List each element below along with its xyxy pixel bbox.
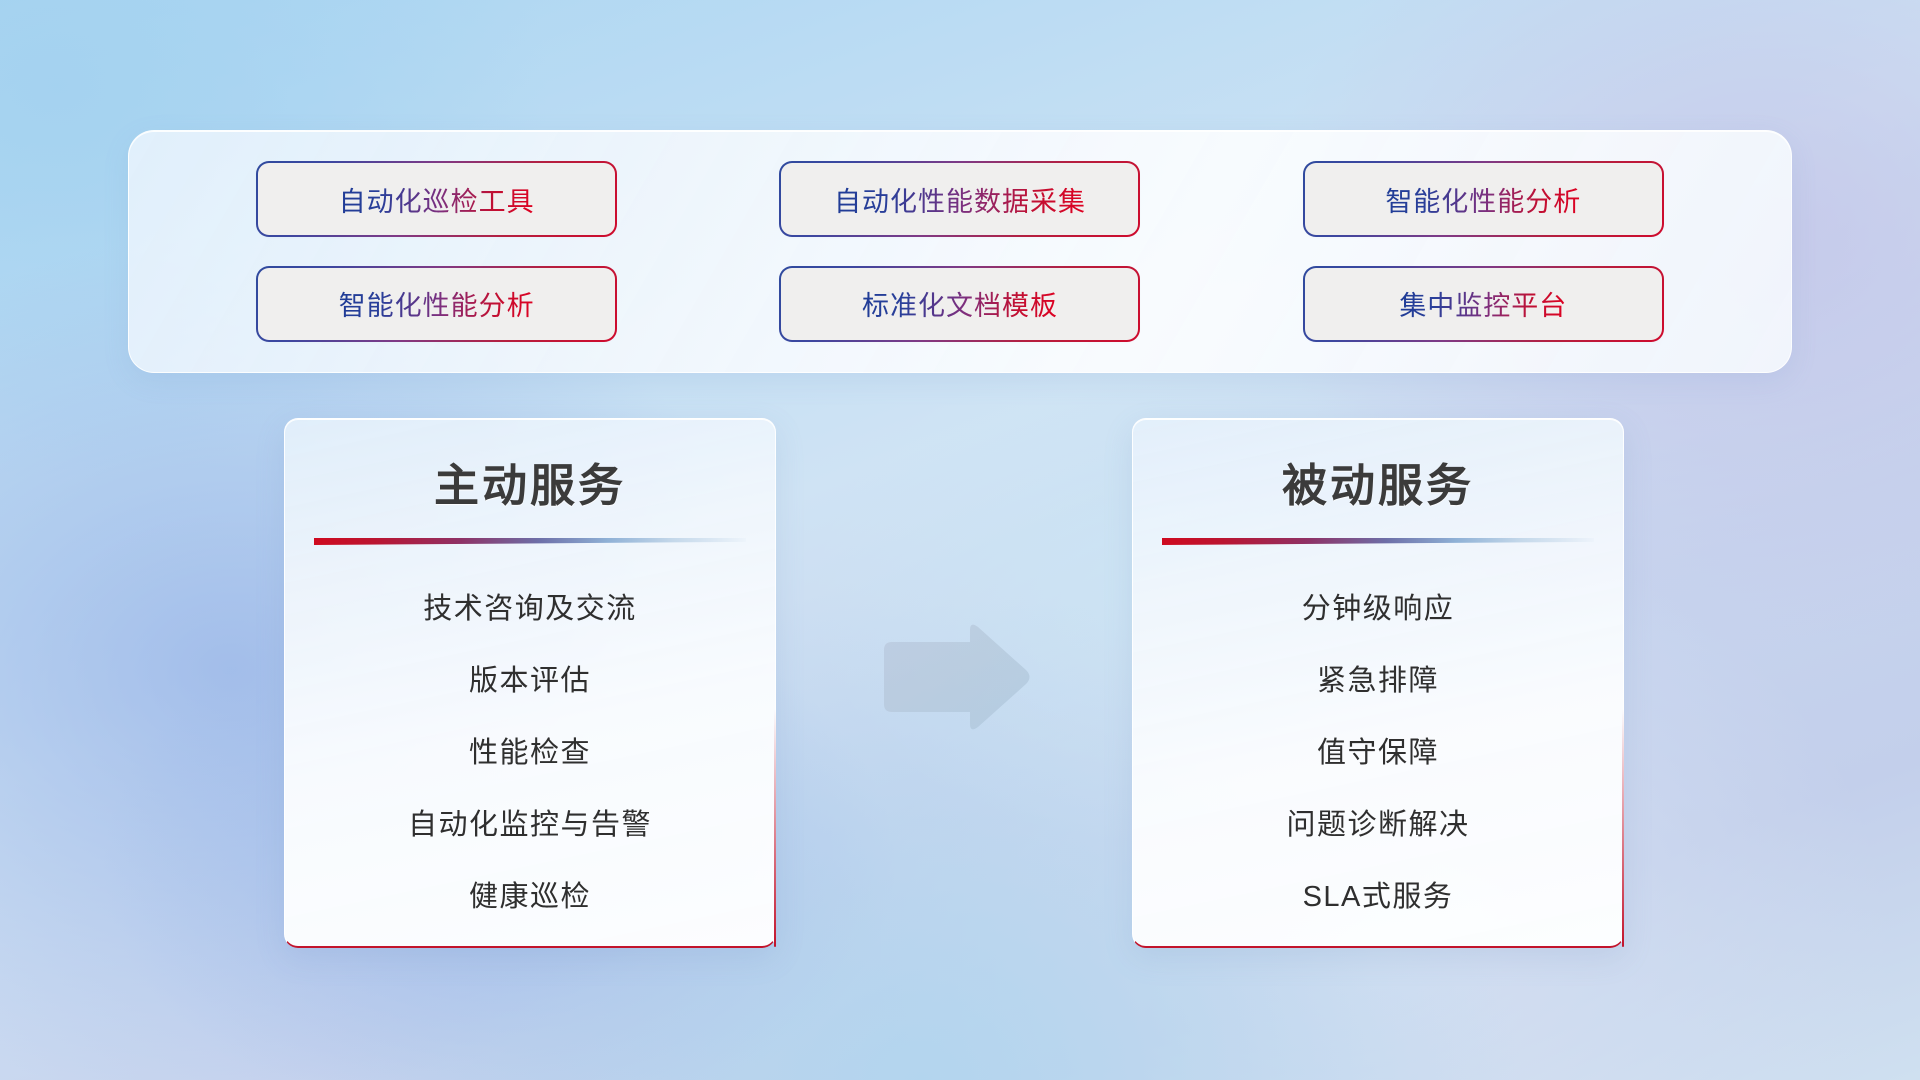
capability-pill-label: 标准化文档模板 bbox=[862, 284, 1058, 323]
capability-pill[interactable]: 智能化性能分析 bbox=[1305, 163, 1662, 235]
capability-pill[interactable]: 智能化性能分析 bbox=[258, 268, 615, 340]
list-item: 版本评估 bbox=[469, 645, 591, 717]
list-item: 技术咨询及交流 bbox=[423, 573, 637, 645]
list-item: SLA式服务 bbox=[1303, 861, 1454, 933]
capability-pill[interactable]: 自动化巡检工具 bbox=[258, 163, 615, 235]
service-list-proactive: 技术咨询及交流 版本评估 性能检查 自动化监控与告警 健康巡检 bbox=[285, 573, 775, 933]
capability-pill-label: 自动化性能数据采集 bbox=[834, 180, 1086, 219]
list-item: 值守保障 bbox=[1317, 717, 1439, 789]
service-card-proactive: 主动服务 技术咨询及交流 版本评估 性能检查 自动化监控与告警 健康巡检 bbox=[284, 418, 776, 948]
service-list-reactive: 分钟级响应 紧急排障 值守保障 问题诊断解决 SLA式服务 bbox=[1133, 573, 1623, 933]
capability-pill-label: 智能化性能分析 bbox=[339, 284, 535, 323]
list-item: 自动化监控与告警 bbox=[408, 789, 652, 861]
service-card-reactive: 被动服务 分钟级响应 紧急排障 值守保障 问题诊断解决 SLA式服务 bbox=[1132, 418, 1624, 948]
list-item: 性能检查 bbox=[469, 717, 591, 789]
capability-pill[interactable]: 自动化性能数据采集 bbox=[781, 163, 1138, 235]
capability-pill-label: 集中监控平台 bbox=[1399, 284, 1567, 323]
capability-pill[interactable]: 集中监控平台 bbox=[1305, 268, 1662, 340]
list-item: 健康巡检 bbox=[469, 861, 591, 933]
title-underline-rule bbox=[1162, 538, 1594, 545]
list-item: 紧急排障 bbox=[1317, 645, 1439, 717]
capability-pill[interactable]: 标准化文档模板 bbox=[781, 268, 1138, 340]
arrow-right-icon bbox=[874, 620, 1034, 736]
slide-canvas: 自动化巡检工具 自动化性能数据采集 智能化性能分析 智能化性能分析 标准化文档模… bbox=[0, 0, 1920, 1080]
title-underline-rule bbox=[314, 538, 746, 545]
list-item: 问题诊断解决 bbox=[1286, 789, 1469, 861]
capability-pill-label: 智能化性能分析 bbox=[1385, 180, 1581, 219]
list-item: 分钟级响应 bbox=[1302, 573, 1455, 645]
card-title: 被动服务 bbox=[1282, 449, 1474, 514]
card-title: 主动服务 bbox=[434, 449, 626, 514]
capability-panel: 自动化巡检工具 自动化性能数据采集 智能化性能分析 智能化性能分析 标准化文档模… bbox=[128, 130, 1792, 373]
capability-pill-label: 自动化巡检工具 bbox=[339, 180, 535, 219]
